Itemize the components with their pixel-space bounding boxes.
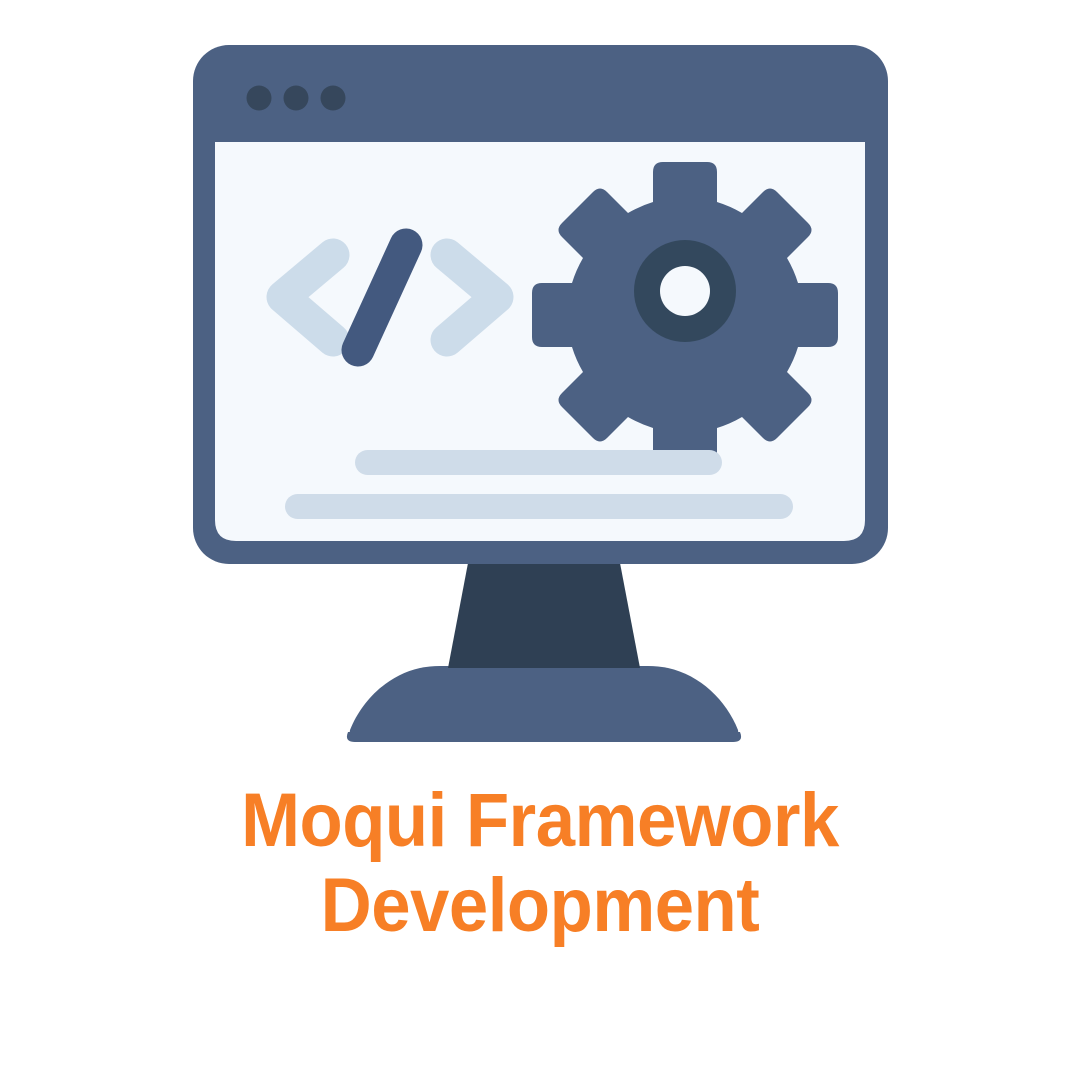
content-bar-2 <box>285 494 793 519</box>
monitor-stand <box>448 563 640 668</box>
window-dot-1 <box>247 86 272 111</box>
window-dot-2 <box>284 86 309 111</box>
gear-hole <box>660 266 710 316</box>
page-title: Moqui Framework Development <box>0 778 1080 948</box>
page-title-line-2: Development <box>38 863 1042 948</box>
page-title-line-1: Moqui Framework <box>38 778 1042 863</box>
window-dots <box>247 86 346 111</box>
gear-icon <box>532 162 838 468</box>
content-bar-1 <box>355 450 722 475</box>
window-dot-3 <box>321 86 346 111</box>
graphic-card: Moqui Framework Development <box>0 0 1080 1080</box>
monitor-base <box>347 666 741 742</box>
monitor-code-gear-illustration <box>0 0 1080 770</box>
